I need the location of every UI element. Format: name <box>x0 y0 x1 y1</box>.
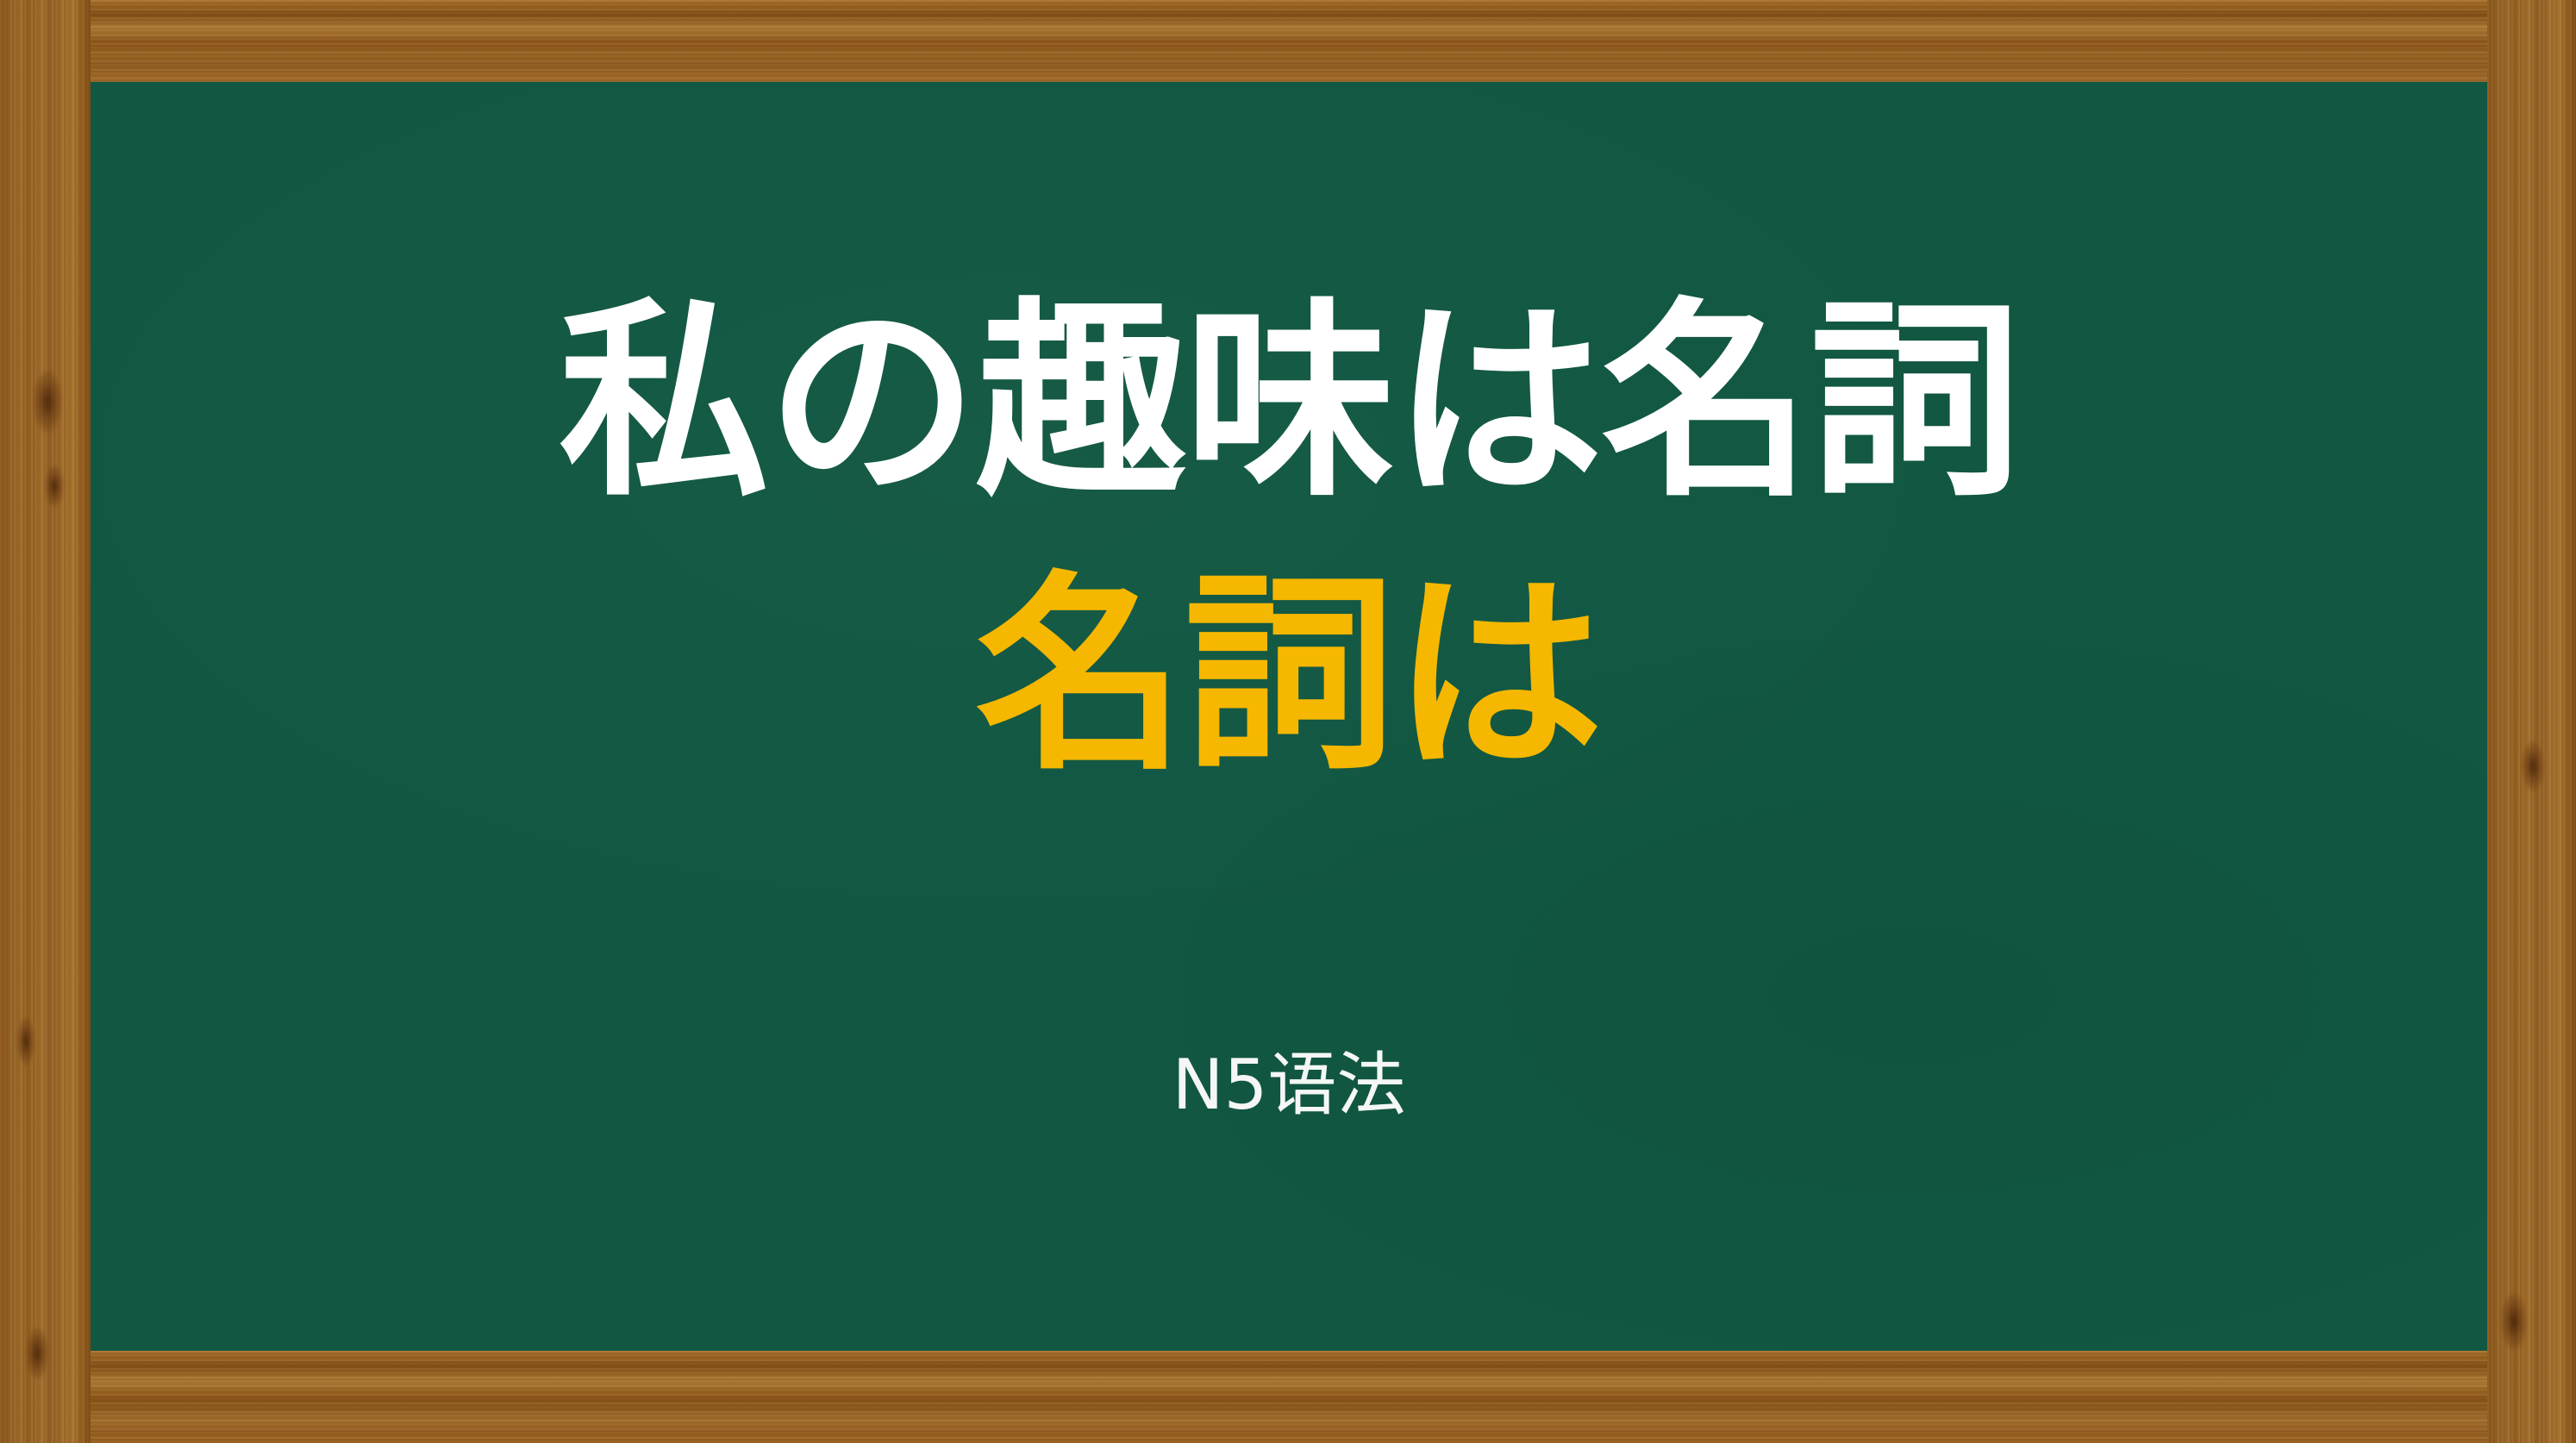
wood-knot-icon <box>33 371 62 433</box>
slide-accent-phrase: 名詞は <box>91 569 2487 784</box>
frame-rail-top <box>0 0 2576 82</box>
frame-stile-left <box>0 0 91 1443</box>
chalkboard-surface: 私の趣味は名詞 名詞は N5语法 <box>91 82 2487 1351</box>
wood-knot-icon <box>26 1327 48 1379</box>
frame-stile-right <box>2487 0 2576 1443</box>
wood-knot-icon <box>2522 741 2544 791</box>
slide-title: 私の趣味は名詞 <box>91 296 2487 510</box>
wood-knot-icon <box>2501 1293 2527 1350</box>
slide-subtitle: N5语法 <box>91 1047 2487 1123</box>
wood-knot-icon <box>17 1017 34 1065</box>
frame-rail-bottom <box>0 1351 2576 1443</box>
slide-canvas: 私の趣味は名詞 名詞は N5语法 <box>0 0 2576 1443</box>
wood-knot-icon <box>45 465 64 507</box>
